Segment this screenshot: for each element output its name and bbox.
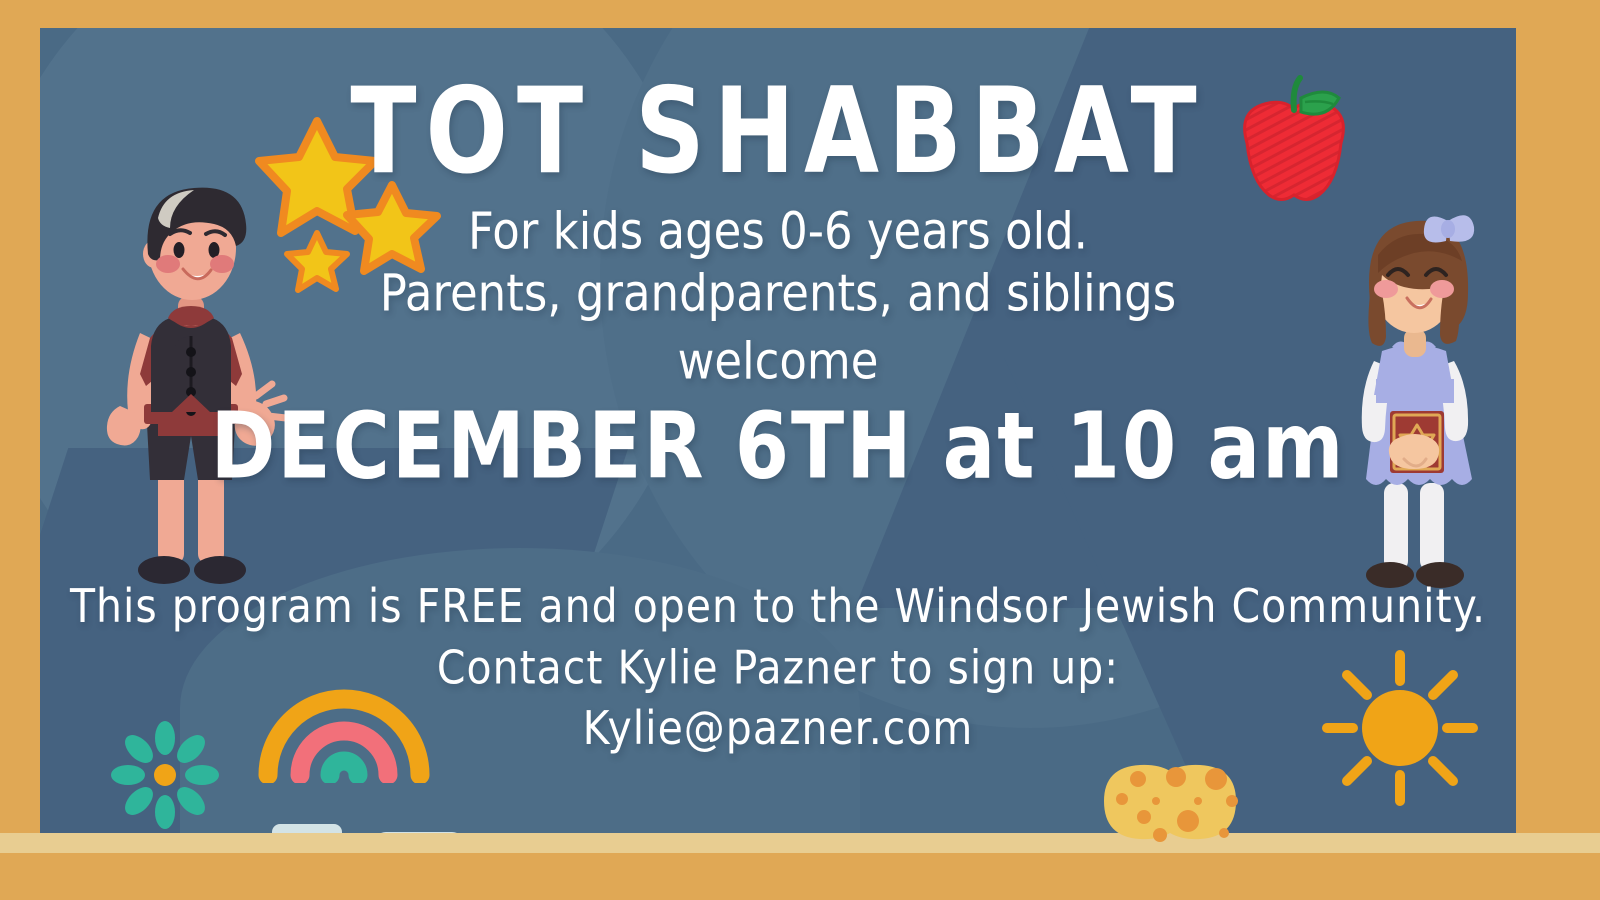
crayon-apple: [1225, 68, 1355, 208]
jewish-girl-character: [1308, 183, 1516, 598]
poster-canvas: TOT SHABBAT For kids ages 0-6 years old.…: [0, 0, 1600, 900]
chalkboard: TOT SHABBAT For kids ages 0-6 years old.…: [40, 28, 1516, 833]
crayon-star-medium: [347, 185, 437, 271]
challah-bread: [1092, 743, 1260, 845]
crayon-sun: [1315, 643, 1485, 813]
crayon-star-small: [287, 233, 347, 290]
chalk-tray-front: [0, 853, 1600, 900]
crayon-stars: [255, 113, 445, 293]
chalk-tray-top: [0, 833, 1600, 853]
crayon-rainbow: [256, 643, 436, 783]
crayon-flower: [110, 720, 220, 830]
chalk-eraser-1[interactable]: [272, 824, 342, 833]
